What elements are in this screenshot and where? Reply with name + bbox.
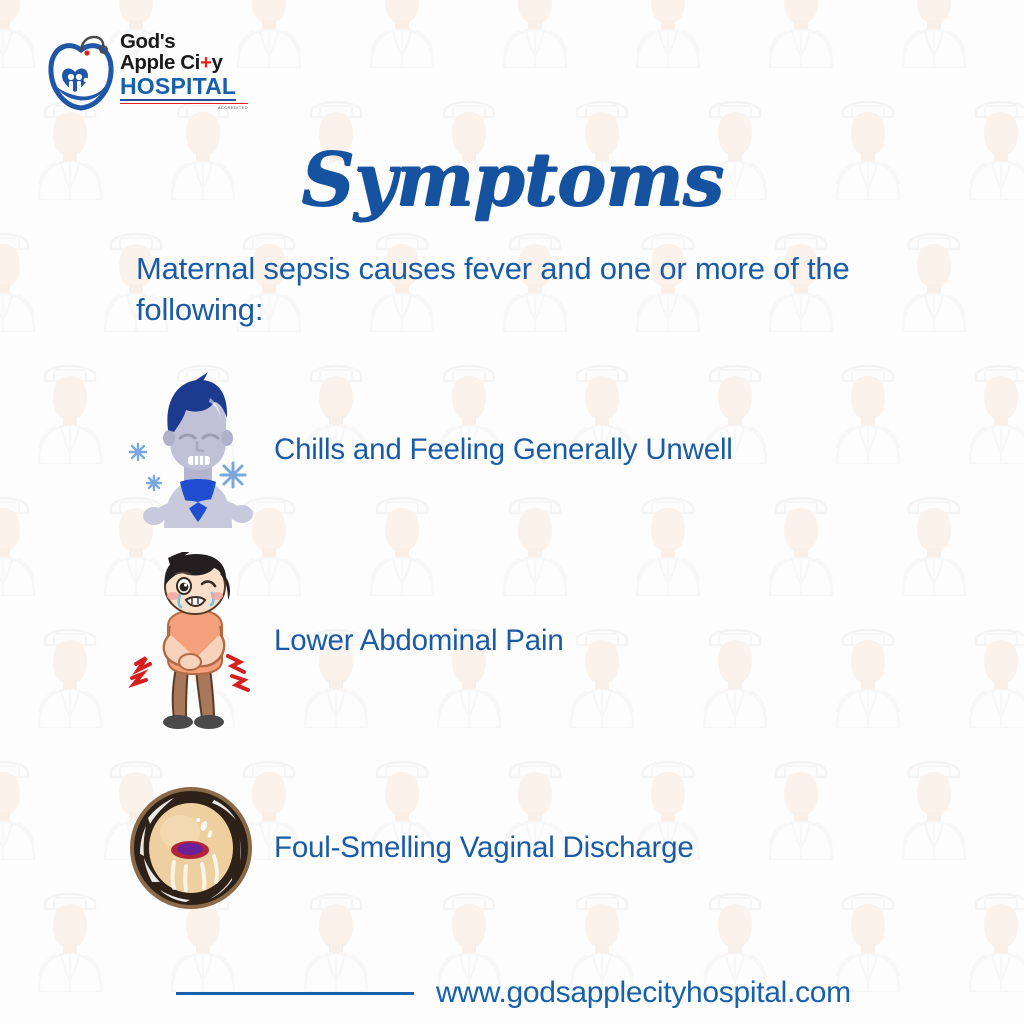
nurse-silhouette-watermark (0, 750, 46, 860)
nurse-silhouette-watermark (27, 618, 113, 728)
logo-wordmark: God's Apple Ci+y HOSPITAL ACCREDITED (120, 32, 250, 110)
logo-line-apple-city: Apple Ci+y (120, 52, 250, 74)
website-url: www.godsapplecityhospital.com (436, 976, 851, 1010)
shivering-person-icon (128, 372, 268, 528)
red-cross-icon: + (200, 51, 212, 74)
nurse-silhouette-watermark (0, 486, 46, 596)
footer-divider-rule (176, 992, 414, 995)
symptom-label: Foul-Smelling Vaginal Discharge (274, 831, 694, 865)
logo-apple-city-pre: Apple Ci (120, 51, 200, 74)
apple-heart-logo-icon (42, 34, 120, 114)
logo-apple-city-post: y (212, 51, 223, 74)
nurse-silhouette-watermark (625, 0, 711, 68)
symptom-row: Foul-Smelling Vaginal Discharge (128, 784, 928, 912)
logo-tagline: ACCREDITED (120, 105, 248, 110)
nurse-silhouette-watermark (359, 0, 445, 68)
symptom-label: Chills and Feeling Generally Unwell (274, 433, 733, 467)
symptom-row: Lower Abdominal Pain (128, 552, 928, 730)
hospital-logo: God's Apple Ci+y HOSPITAL ACCREDITED (42, 30, 247, 126)
logo-line-hospital: HOSPITAL (120, 74, 236, 101)
symptom-row: Chills and Feeling Generally Unwell (128, 372, 928, 528)
nurse-silhouette-watermark (891, 0, 977, 68)
logo-line-gods: God's (120, 32, 250, 52)
symptom-label: Lower Abdominal Pain (274, 624, 564, 658)
infographic-canvas: God's Apple Ci+y HOSPITAL ACCREDITED Sym… (0, 0, 1024, 1024)
vaginal-discharge-icon (128, 784, 268, 912)
abdominal-pain-person-icon (128, 552, 268, 730)
nurse-silhouette-watermark (958, 354, 1024, 464)
nurse-silhouette-watermark (0, 222, 46, 332)
nurse-silhouette-watermark (758, 0, 844, 68)
nurse-silhouette-watermark (492, 0, 578, 68)
nurse-silhouette-watermark (958, 618, 1024, 728)
page-title: Symptoms (0, 137, 1024, 223)
intro-paragraph: Maternal sepsis causes fever and one or … (136, 248, 926, 330)
logo-red-rule (120, 103, 248, 105)
nurse-silhouette-watermark (0, 0, 46, 68)
footer: www.godsapplecityhospital.com (0, 968, 1024, 1018)
nurse-silhouette-watermark (27, 354, 113, 464)
